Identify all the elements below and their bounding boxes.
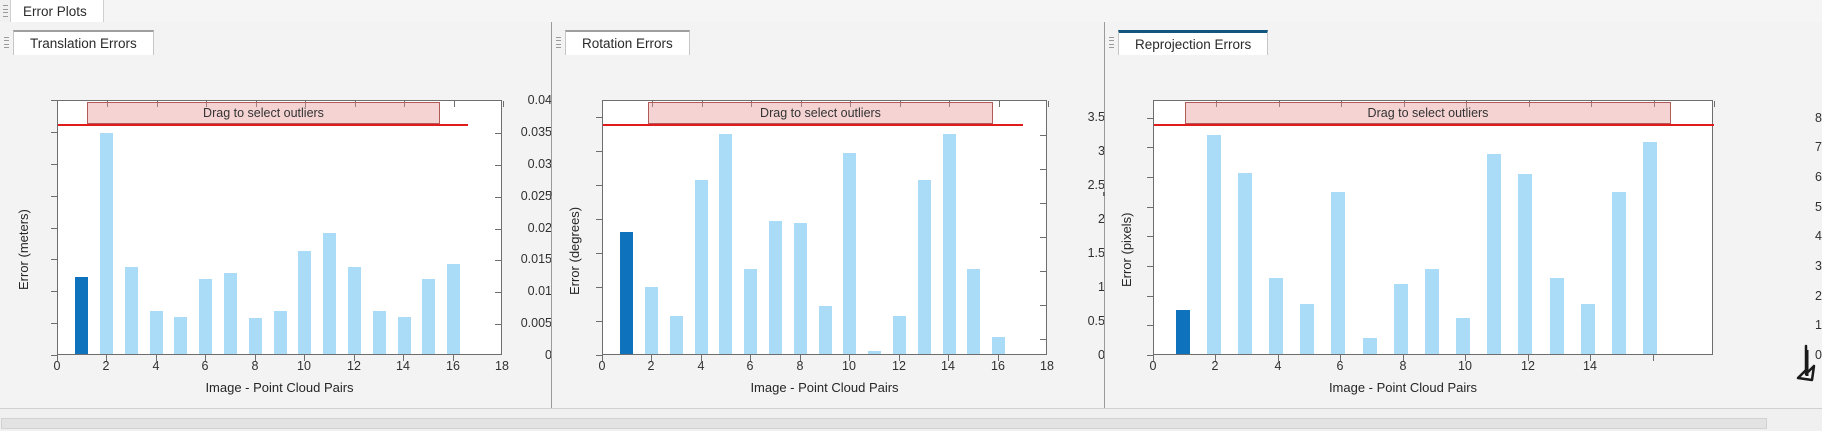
x-tick-label: 4 <box>1275 359 1282 373</box>
bar[interactable] <box>1581 304 1595 354</box>
y-tick-label: 1 <box>1064 280 1105 294</box>
tab-reprojection-errors[interactable]: Reprojection Errors <box>1118 30 1268 55</box>
y-tick <box>1147 177 1153 178</box>
y-tick <box>51 228 57 229</box>
y-tick-label: 3 <box>1064 144 1105 158</box>
resize-arrow-cursor-icon <box>1778 340 1818 396</box>
y-tick <box>596 117 602 118</box>
y-tick-label: 0 <box>1064 348 1105 362</box>
bar[interactable] <box>125 267 138 354</box>
bar[interactable] <box>1425 269 1439 354</box>
panel-tab-bar-rotation: Rotation Errors <box>552 22 1105 55</box>
y-tick-label: 0.01 <box>504 284 552 298</box>
y-tick <box>1147 296 1153 297</box>
bar[interactable] <box>150 311 163 354</box>
y-tick <box>596 219 602 220</box>
bar[interactable] <box>1238 173 1252 354</box>
bar[interactable] <box>1331 192 1345 354</box>
y-tick <box>51 323 57 324</box>
x-tick-label: 2 <box>103 359 110 373</box>
bar-series-translation <box>58 101 501 354</box>
y-tick-label: 6 <box>1783 170 1822 184</box>
x-tick-label: 2 <box>1212 359 1219 373</box>
bar[interactable] <box>620 232 633 354</box>
bar[interactable] <box>645 287 658 354</box>
bar[interactable] <box>769 221 782 354</box>
bar[interactable] <box>918 180 931 354</box>
x-tick-label: 8 <box>797 359 804 373</box>
x-tick-label: 8 <box>1400 359 1407 373</box>
panel-tab-bar-translation: Translation Errors <box>0 22 552 55</box>
y-tick-label: 0.03 <box>504 157 552 171</box>
x-tick-label: 6 <box>747 359 754 373</box>
y-tick-label: 3.5 <box>1064 110 1105 124</box>
y-tick-label: 0.035 <box>504 125 552 139</box>
y-tick <box>596 253 602 254</box>
y-tick-label: 5 <box>1783 200 1822 214</box>
bar[interactable] <box>943 134 956 354</box>
drag-grip-icon <box>3 5 8 17</box>
axes-rotation: Drag to select outliers <box>602 100 1047 355</box>
tab-rotation-errors[interactable]: Rotation Errors <box>565 30 690 55</box>
x-tick-label: 10 <box>1458 359 1472 373</box>
y-tick <box>596 287 602 288</box>
tab-label: Reprojection Errors <box>1135 37 1251 52</box>
x-tick-label: 6 <box>202 359 209 373</box>
document-tab-bar: Error Plots <box>0 0 1822 22</box>
x-tick-label: 10 <box>842 359 856 373</box>
y-axis-title: Error (pixels) <box>1119 213 1134 287</box>
panel-translation-errors: Translation Errors Drag to select out <box>0 22 552 408</box>
bar[interactable] <box>1550 278 1564 354</box>
bar[interactable] <box>1643 142 1657 354</box>
x-tick-label: 14 <box>1583 359 1597 373</box>
document-tab-error-plots[interactable]: Error Plots <box>10 0 104 22</box>
bar-series-rotation <box>603 101 1046 354</box>
x-tick-label: 16 <box>446 359 460 373</box>
bar[interactable] <box>1612 192 1626 354</box>
y-tick-label: 8 <box>1783 111 1822 125</box>
x-axis-title: Image - Point Cloud Pairs <box>1153 380 1653 395</box>
bar[interactable] <box>75 277 88 354</box>
bar[interactable] <box>422 279 435 354</box>
x-tick-label: 8 <box>252 359 259 373</box>
tab-label: Translation Errors <box>30 36 137 51</box>
x-tick-label: 0 <box>54 359 61 373</box>
bar[interactable] <box>695 180 708 354</box>
document-tab-bar-empty <box>104 0 1822 23</box>
bottom-status-strip <box>0 408 1822 431</box>
y-axis-title: Error (meters) <box>16 209 31 290</box>
bar[interactable] <box>843 153 856 354</box>
panel-reprojection-errors: Reprojection Errors Drag to select outli… <box>1105 22 1822 408</box>
x-tick-label: 14 <box>941 359 955 373</box>
tab-translation-errors[interactable]: Translation Errors <box>13 30 154 55</box>
bar[interactable] <box>1363 338 1377 354</box>
bar[interactable] <box>1518 174 1532 354</box>
x-tick-label: 0 <box>1150 359 1157 373</box>
x-tick-label: 10 <box>297 359 311 373</box>
x-tick-label: 18 <box>495 359 509 373</box>
y-tick-label: 2.5 <box>1064 178 1105 192</box>
panel-rotation-errors: Rotation Errors Drag to select outliers <box>552 22 1105 408</box>
bar[interactable] <box>174 317 187 354</box>
y-tick-label: 0.04 <box>504 93 552 107</box>
figure-reprojection-errors: Drag to select outliers <box>1105 55 1822 408</box>
x-tick-label: 14 <box>396 359 410 373</box>
y-tick <box>1147 118 1153 119</box>
x-tick <box>1653 355 1654 361</box>
drag-grip-icon <box>4 37 9 48</box>
y-tick <box>51 196 57 197</box>
bar[interactable] <box>1269 278 1283 354</box>
horizontal-scrollbar-track[interactable] <box>0 413 1770 427</box>
bar[interactable] <box>348 267 361 354</box>
y-axis-title: Error (degrees) <box>567 207 582 295</box>
bar[interactable] <box>1487 154 1501 354</box>
document-tab-label: Error Plots <box>23 4 87 19</box>
y-tick-label: 1 <box>1783 318 1822 332</box>
panel-tab-bar-reprojection: Reprojection Errors <box>1105 22 1822 55</box>
y-tick-label: 2 <box>1064 212 1105 226</box>
y-tick <box>51 132 57 133</box>
axes-reprojection: Drag to select outliers <box>1153 100 1713 355</box>
y-tick <box>1147 207 1153 208</box>
bar[interactable] <box>1207 135 1221 354</box>
bar[interactable] <box>719 134 732 354</box>
y-tick <box>51 100 57 101</box>
y-tick <box>1147 266 1153 267</box>
drag-grip-icon <box>556 37 561 48</box>
y-tick <box>1147 236 1153 237</box>
bar[interactable] <box>323 233 336 354</box>
y-tick-label: 0.005 <box>504 316 552 330</box>
y-tick <box>51 259 57 260</box>
bar[interactable] <box>967 269 980 354</box>
y-tick-label: 0.015 <box>504 252 552 266</box>
y-tick-label: 3 <box>1783 259 1822 273</box>
figure-translation-errors: Drag to select outliers <box>0 55 552 408</box>
y-tick-label: 0.5 <box>1064 314 1105 328</box>
x-tick-label: 12 <box>347 359 361 373</box>
bar[interactable] <box>1394 284 1408 354</box>
y-tick <box>1147 147 1153 148</box>
x-tick-label: 4 <box>698 359 705 373</box>
x-tick-label: 12 <box>892 359 906 373</box>
drag-grip-icon <box>1109 37 1114 48</box>
y-tick-label: 1.5 <box>1064 246 1105 260</box>
bar[interactable] <box>1300 304 1314 354</box>
bar[interactable] <box>274 311 287 354</box>
x-tick-label: 16 <box>991 359 1005 373</box>
bar[interactable] <box>224 273 237 354</box>
bar[interactable] <box>100 133 113 354</box>
figure-rotation-errors: Drag to select outliers <box>552 55 1105 408</box>
bar[interactable] <box>199 279 212 354</box>
horizontal-scrollbar-thumb[interactable] <box>1 418 1767 429</box>
y-tick-label: 7 <box>1783 140 1822 154</box>
y-tick <box>1147 325 1153 326</box>
x-tick-label: 6 <box>1337 359 1344 373</box>
y-tick <box>51 291 57 292</box>
y-tick <box>51 164 57 165</box>
y-tick-label: 0.025 <box>504 189 552 203</box>
bar[interactable] <box>398 317 411 354</box>
bar[interactable] <box>819 306 832 354</box>
bar[interactable] <box>868 351 881 354</box>
y-tick <box>596 321 602 322</box>
bar[interactable] <box>373 311 386 354</box>
y-tick <box>596 185 602 186</box>
bar[interactable] <box>992 337 1005 354</box>
axes-translation: Drag to select outliers <box>57 100 502 355</box>
panel-container: Translation Errors Drag to select out <box>0 22 1822 408</box>
bar[interactable] <box>794 223 807 354</box>
bar[interactable] <box>1176 310 1190 354</box>
x-tick-label: 18 <box>1040 359 1054 373</box>
y-tick-label: 2 <box>1783 289 1822 303</box>
y-tick-label: 0.02 <box>504 221 552 235</box>
bar[interactable] <box>670 316 683 354</box>
x-tick-label: 0 <box>599 359 606 373</box>
y-tick <box>596 151 602 152</box>
bar[interactable] <box>447 264 460 354</box>
y-tick-label: 0 <box>504 348 552 362</box>
bar[interactable] <box>249 318 262 354</box>
x-axis-title: Image - Point Cloud Pairs <box>602 380 1047 395</box>
bar-series-reprojection <box>1154 101 1712 354</box>
y-tick-label: 4 <box>1783 229 1822 243</box>
bar[interactable] <box>893 316 906 354</box>
tab-label: Rotation Errors <box>582 36 673 51</box>
x-tick-label: 2 <box>648 359 655 373</box>
x-axis-title: Image - Point Cloud Pairs <box>57 380 502 395</box>
bar[interactable] <box>298 251 311 354</box>
bar[interactable] <box>1456 318 1470 354</box>
bar[interactable] <box>744 269 757 354</box>
x-tick-label: 4 <box>153 359 160 373</box>
x-tick-label: 12 <box>1521 359 1535 373</box>
